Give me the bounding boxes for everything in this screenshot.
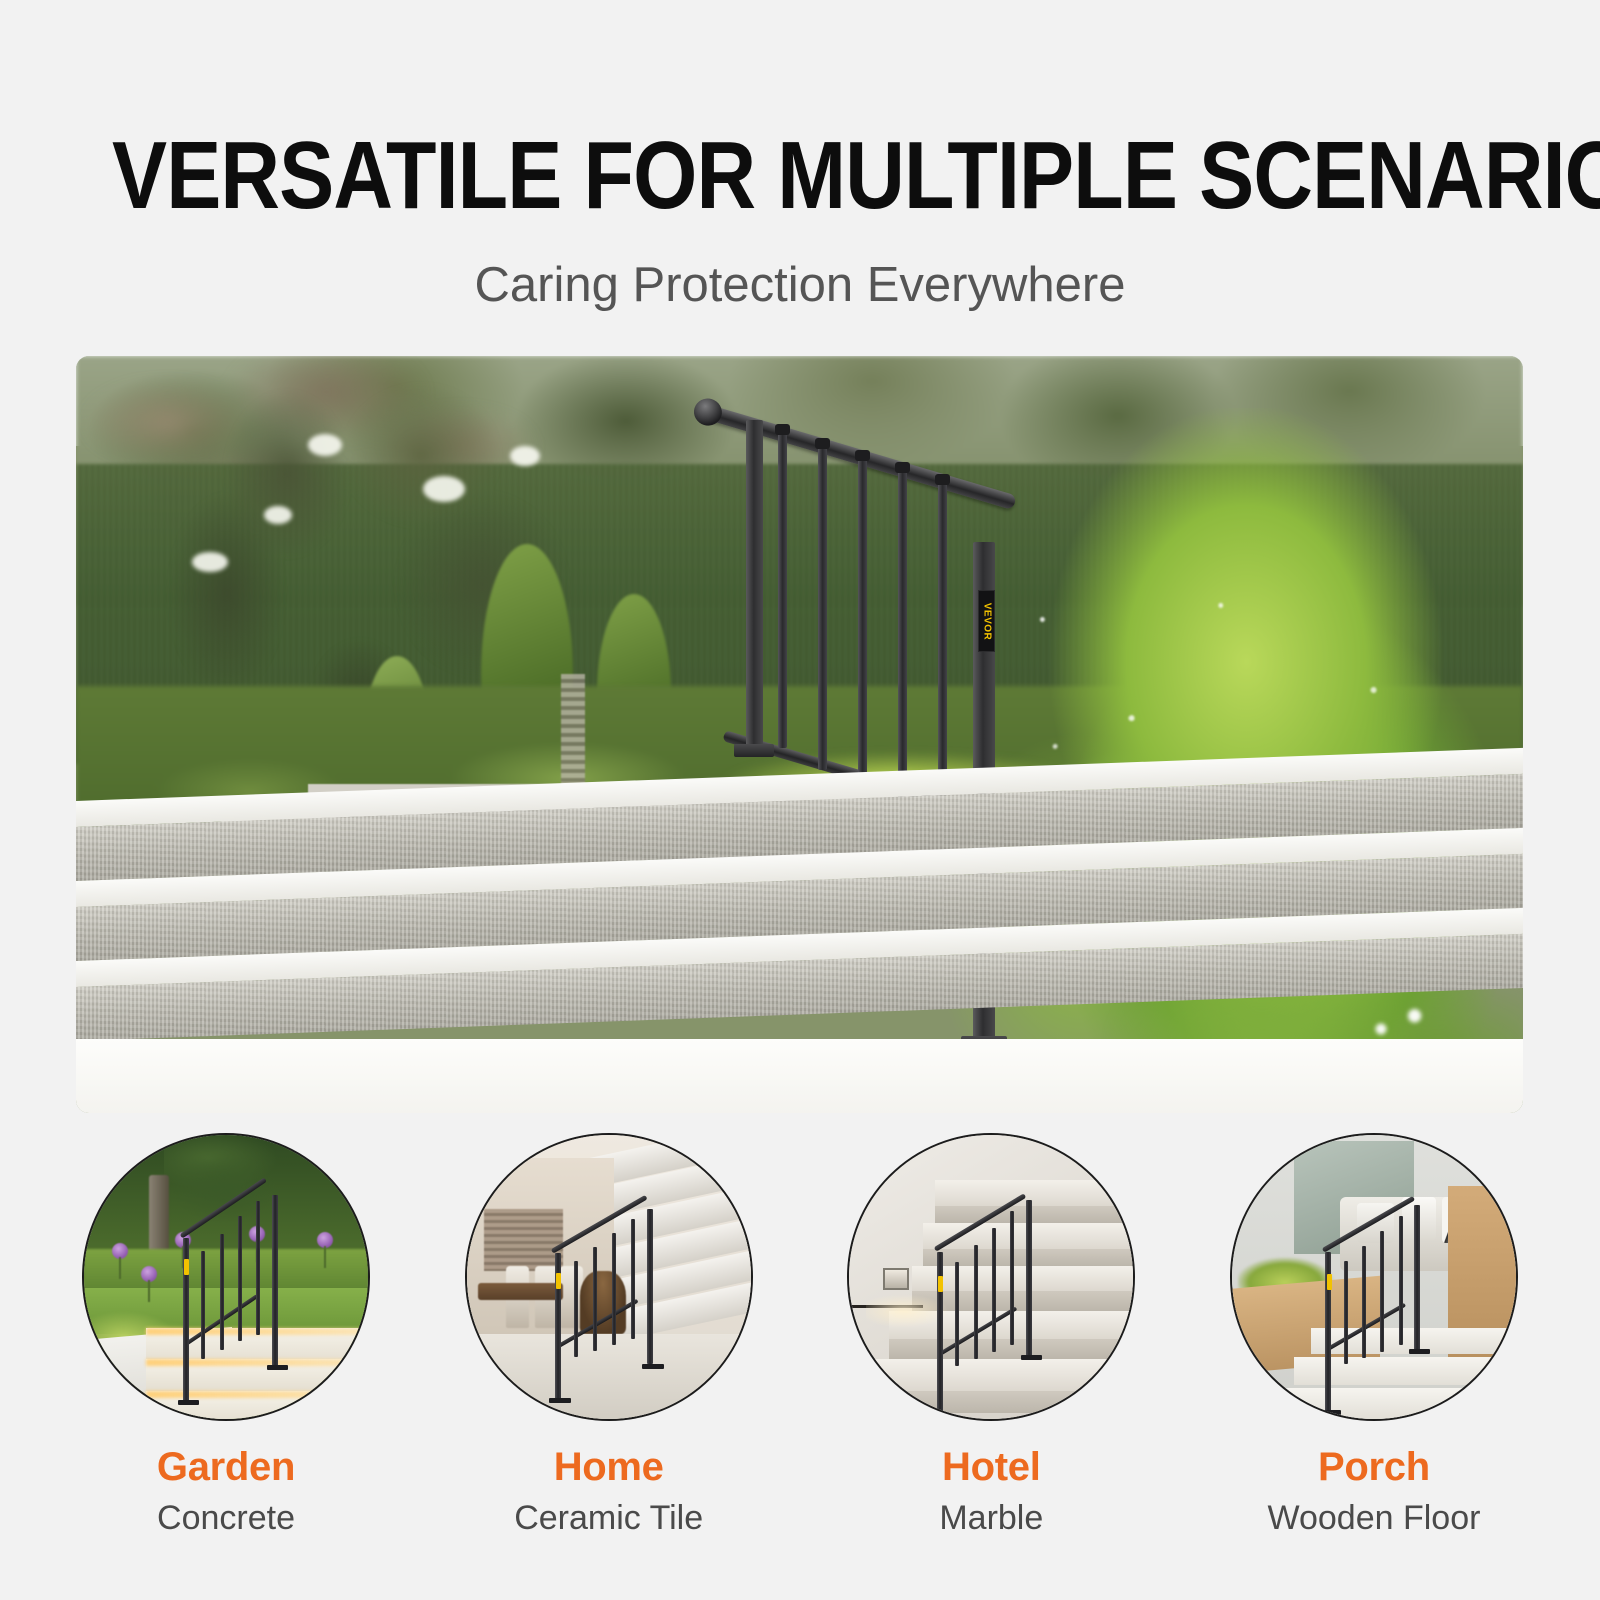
label-home-title: Home [459, 1443, 759, 1491]
blossom [308, 434, 342, 456]
label-garden-title: Garden [76, 1443, 376, 1491]
label-home-surface: Ceramic Tile [459, 1495, 759, 1541]
hero-scene: VEVOR [76, 356, 1523, 1113]
baluster-bracket [775, 424, 790, 435]
scenario-labels: Garden Concrete Home Ceramic Tile Hotel … [76, 1443, 1524, 1541]
scenario-garden-image [82, 1133, 370, 1421]
label-hotel-surface: Marble [841, 1495, 1141, 1541]
trellis-post [561, 674, 585, 786]
blossom [510, 446, 540, 466]
label-home: Home Ceramic Tile [459, 1443, 759, 1541]
scenario-porch-image [1230, 1133, 1518, 1421]
label-garden: Garden Concrete [76, 1443, 376, 1541]
vevor-brand-text: VEVOR [981, 602, 992, 640]
label-porch-surface: Wooden Floor [1224, 1495, 1524, 1541]
scenario-hotel-image [847, 1133, 1135, 1421]
page-title: VERSATILE FOR MULTIPLE SCENARIOS [112, 126, 1488, 226]
hero-image: VEVOR [76, 356, 1523, 1113]
baluster [778, 426, 787, 748]
baluster-bracket [935, 474, 950, 485]
baluster-bracket [855, 450, 870, 461]
label-hotel-title: Hotel [841, 1443, 1141, 1491]
label-porch-title: Porch [1224, 1443, 1524, 1491]
baluster [898, 464, 907, 810]
baluster [818, 440, 827, 770]
handrail-rear-post [746, 420, 763, 750]
marketing-page: VERSATILE FOR MULTIPLE SCENARIOS Caring … [0, 0, 1600, 1600]
vevor-brand-tag: VEVOR [978, 590, 995, 652]
label-garden-surface: Concrete [76, 1495, 376, 1541]
scenario-garden[interactable] [76, 1133, 376, 1421]
bottom-landing [76, 1039, 1523, 1113]
handrail-base-plate [734, 744, 774, 757]
scenario-porch[interactable] [1224, 1133, 1524, 1421]
granite-steps [76, 783, 1523, 1113]
baluster-bracket [895, 462, 910, 473]
blossom [192, 552, 228, 572]
scenario-thumbnails [76, 1133, 1524, 1433]
blossom [423, 476, 465, 502]
mini-handrail [935, 1180, 1066, 1419]
mini-handrail [181, 1186, 312, 1402]
page-subtitle: Caring Protection Everywhere [0, 256, 1600, 314]
baluster-bracket [815, 438, 830, 449]
mini-handrail [1323, 1192, 1454, 1408]
scenario-home-image [465, 1133, 753, 1421]
label-hotel: Hotel Marble [841, 1443, 1141, 1541]
scenario-hotel[interactable] [841, 1133, 1141, 1421]
mini-handrail [552, 1197, 688, 1396]
label-porch: Porch Wooden Floor [1224, 1443, 1524, 1541]
baluster [858, 452, 867, 790]
blossom [264, 506, 292, 524]
scenario-home[interactable] [459, 1133, 759, 1421]
